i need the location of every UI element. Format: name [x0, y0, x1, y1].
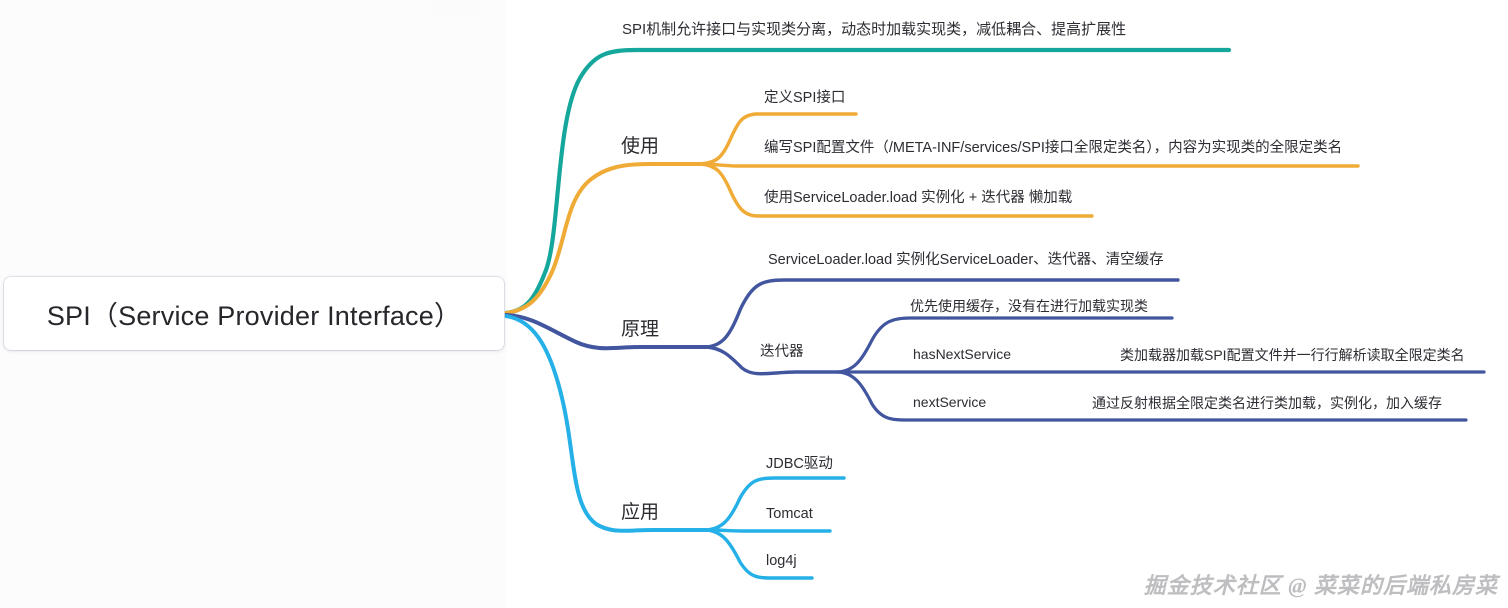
node-definition-label: SPI机制允许接口与实现类分离，动态时加载实现类，减低耦合、提高扩展性: [622, 21, 1126, 38]
node-principle-iterator[interactable]: 迭代器: [760, 344, 804, 361]
edge-iterator-to-cache-first: [838, 318, 1172, 372]
node-usage-serviceloader[interactable]: 使用ServiceLoader.load 实例化 + 迭代器 懒加载: [764, 190, 1072, 207]
edge-root-to-principle: [506, 315, 706, 348]
node-definition[interactable]: SPI机制允许接口与实现类分离，动态时加载实现类，减低耦合、提高扩展性: [622, 21, 1126, 39]
node-iterator-hasnextservice-label: hasNextService: [913, 346, 1011, 362]
root-node-label: SPI（Service Provider Interface）: [47, 294, 461, 333]
node-application[interactable]: 应用: [621, 502, 659, 525]
node-principle-label: 原理: [621, 319, 659, 340]
node-iterator-nextservice-detail[interactable]: 通过反射根据全限定类名进行类加载，实例化，加入缓存: [1092, 395, 1442, 412]
root-node[interactable]: SPI（Service Provider Interface）: [4, 277, 504, 350]
node-iterator-nextservice[interactable]: nextService: [913, 394, 986, 411]
node-iterator-hasnextservice-detail[interactable]: 类加载器加载SPI配置文件并一行行解析读取全限定类名: [1120, 347, 1465, 364]
node-usage-define-interface[interactable]: 定义SPI接口: [764, 90, 845, 107]
node-iterator-cache-first[interactable]: 优先使用缓存，没有在进行加载实现类: [910, 298, 1148, 315]
edge-application-to-tomcat: [706, 530, 830, 531]
node-application-log4j[interactable]: log4j: [766, 553, 797, 570]
edge-root-to-application: [506, 316, 706, 531]
mindmap-canvas: SPI（Service Provider Interface） SPI机制允许接…: [0, 0, 1508, 608]
node-application-label: 应用: [621, 502, 659, 523]
edge-root-to-usage: [506, 164, 700, 313]
node-principle-iterator-label: 迭代器: [760, 344, 804, 360]
node-iterator-nextservice-label: nextService: [913, 394, 986, 410]
node-iterator-hasnextservice-detail-label: 类加载器加载SPI配置文件并一行行解析读取全限定类名: [1120, 347, 1465, 363]
node-principle[interactable]: 原理: [621, 319, 659, 342]
node-iterator-nextservice-detail-label: 通过反射根据全限定类名进行类加载，实例化，加入缓存: [1092, 395, 1442, 411]
node-application-tomcat-label: Tomcat: [766, 506, 813, 522]
edge-root-to-definition: [506, 50, 1229, 313]
node-application-tomcat[interactable]: Tomcat: [766, 506, 813, 523]
node-usage-define-interface-label: 定义SPI接口: [764, 90, 845, 106]
watermark: 掘金技术社区 @ 菜菜的后端私房菜: [1144, 568, 1498, 600]
node-usage-config-file-label: 编写SPI配置文件（/META-INF/services/SPI接口全限定类名）…: [764, 140, 1342, 156]
node-principle-load-label: ServiceLoader.load 实例化ServiceLoader、迭代器、…: [768, 252, 1164, 268]
node-iterator-cache-first-label: 优先使用缓存，没有在进行加载实现类: [910, 298, 1148, 314]
node-application-jdbc-label: JDBC驱动: [766, 456, 833, 472]
node-usage-label: 使用: [621, 136, 659, 157]
node-usage[interactable]: 使用: [621, 136, 659, 159]
edge-group-definition: [506, 50, 1229, 313]
node-application-jdbc[interactable]: JDBC驱动: [766, 456, 833, 473]
node-usage-serviceloader-label: 使用ServiceLoader.load 实例化 + 迭代器 懒加载: [764, 190, 1072, 206]
node-usage-config-file[interactable]: 编写SPI配置文件（/META-INF/services/SPI接口全限定类名）…: [764, 140, 1342, 157]
watermark-text: 掘金技术社区 @ 菜菜的后端私房菜: [1144, 573, 1498, 598]
node-principle-load[interactable]: ServiceLoader.load 实例化ServiceLoader、迭代器、…: [768, 252, 1164, 269]
background-artifact: [432, 0, 480, 14]
node-application-log4j-label: log4j: [766, 553, 797, 569]
edge-usage-to-config-file: [700, 164, 1358, 166]
node-iterator-hasnextservice[interactable]: hasNextService: [913, 346, 1011, 363]
